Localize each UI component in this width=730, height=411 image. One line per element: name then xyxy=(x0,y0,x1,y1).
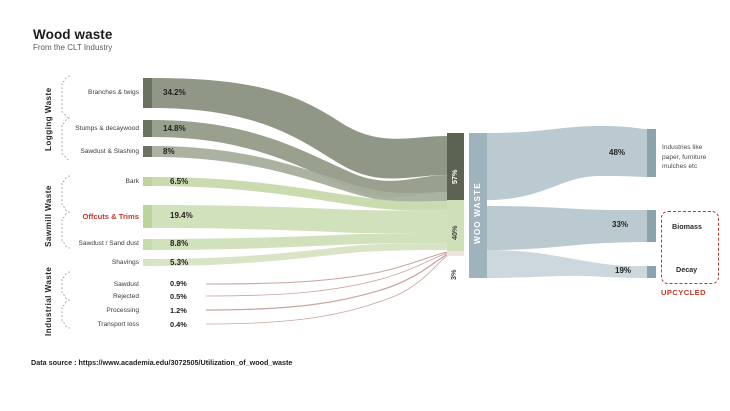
center-value-57: 57% xyxy=(450,150,459,184)
node-label-branches-twigs: Branches & twigs xyxy=(0,89,139,96)
node-label-stumps-decaywood: Stumps & decaywood xyxy=(0,125,139,132)
sankey-diagram: Wood waste From the CLT Industry xyxy=(0,0,730,411)
node-label-sawdust-slashing: Sawdust & Slashing xyxy=(0,148,139,155)
output-label-industries-line3: mulches etc xyxy=(662,162,706,172)
node-decay[interactable] xyxy=(647,266,656,278)
flow-to-industries xyxy=(487,126,647,200)
value-processing: 1.2% xyxy=(170,306,187,315)
value-sawdust-industrial: 0.9% xyxy=(170,279,187,288)
node-label-sawdust-sanddust: Sawdust / Sand dust xyxy=(0,240,139,247)
node-stumps-decaywood[interactable] xyxy=(143,120,152,137)
flow-layer xyxy=(0,0,730,411)
value-shavings: 5.3% xyxy=(170,258,188,267)
node-offcuts-trims[interactable] xyxy=(143,205,152,228)
value-biomass: 33% xyxy=(612,220,628,229)
node-label-rejected: Rejected xyxy=(0,293,139,300)
value-industries: 48% xyxy=(609,148,625,157)
data-source-text: Data source : https://www.academia.edu/3… xyxy=(31,358,292,367)
node-label-offcuts-trims: Offcuts & Trims xyxy=(0,212,139,221)
node-sawdust-sanddust[interactable] xyxy=(143,239,152,250)
output-label-industries-line1: Industries like xyxy=(662,143,706,153)
node-branches-twigs[interactable] xyxy=(143,78,152,108)
value-branches-twigs: 34.2% xyxy=(163,88,186,97)
node-sawdust-slashing[interactable] xyxy=(143,146,152,157)
center-node-label: WOO WASTE xyxy=(473,176,482,244)
node-label-transport-loss: Transport loss xyxy=(0,321,139,328)
node-bark[interactable] xyxy=(143,177,152,186)
value-sawdust-sanddust: 8.8% xyxy=(170,239,188,248)
value-stumps-decaywood: 14.8% xyxy=(163,124,186,133)
value-decay: 19% xyxy=(615,266,631,275)
value-offcuts-trims: 19.4% xyxy=(170,211,193,220)
node-biomass[interactable] xyxy=(647,210,656,242)
output-label-industries: Industries like paper, furniture mulches… xyxy=(662,143,706,172)
value-bark: 6.5% xyxy=(170,177,188,186)
node-shavings[interactable] xyxy=(143,259,152,266)
output-label-biomass: Biomass xyxy=(672,222,702,231)
upcycled-label: UPCYCLED xyxy=(661,288,706,297)
node-label-bark: Bark xyxy=(0,178,139,185)
value-sawdust-slashing: 8% xyxy=(163,147,175,156)
node-label-shavings: Shavings xyxy=(0,259,139,266)
output-label-decay: Decay xyxy=(676,265,697,274)
node-label-processing: Processing xyxy=(0,307,139,314)
value-transport-loss: 0.4% xyxy=(170,320,187,329)
value-rejected: 0.5% xyxy=(170,292,187,301)
output-label-industries-line2: paper, furniture xyxy=(662,153,706,163)
center-value-40: 40% xyxy=(450,212,459,240)
center-segment-3[interactable] xyxy=(447,251,464,256)
node-industries[interactable] xyxy=(647,129,656,177)
center-value-3: 3% xyxy=(449,260,458,280)
node-label-sawdust-industrial: Sawdust xyxy=(0,281,139,288)
